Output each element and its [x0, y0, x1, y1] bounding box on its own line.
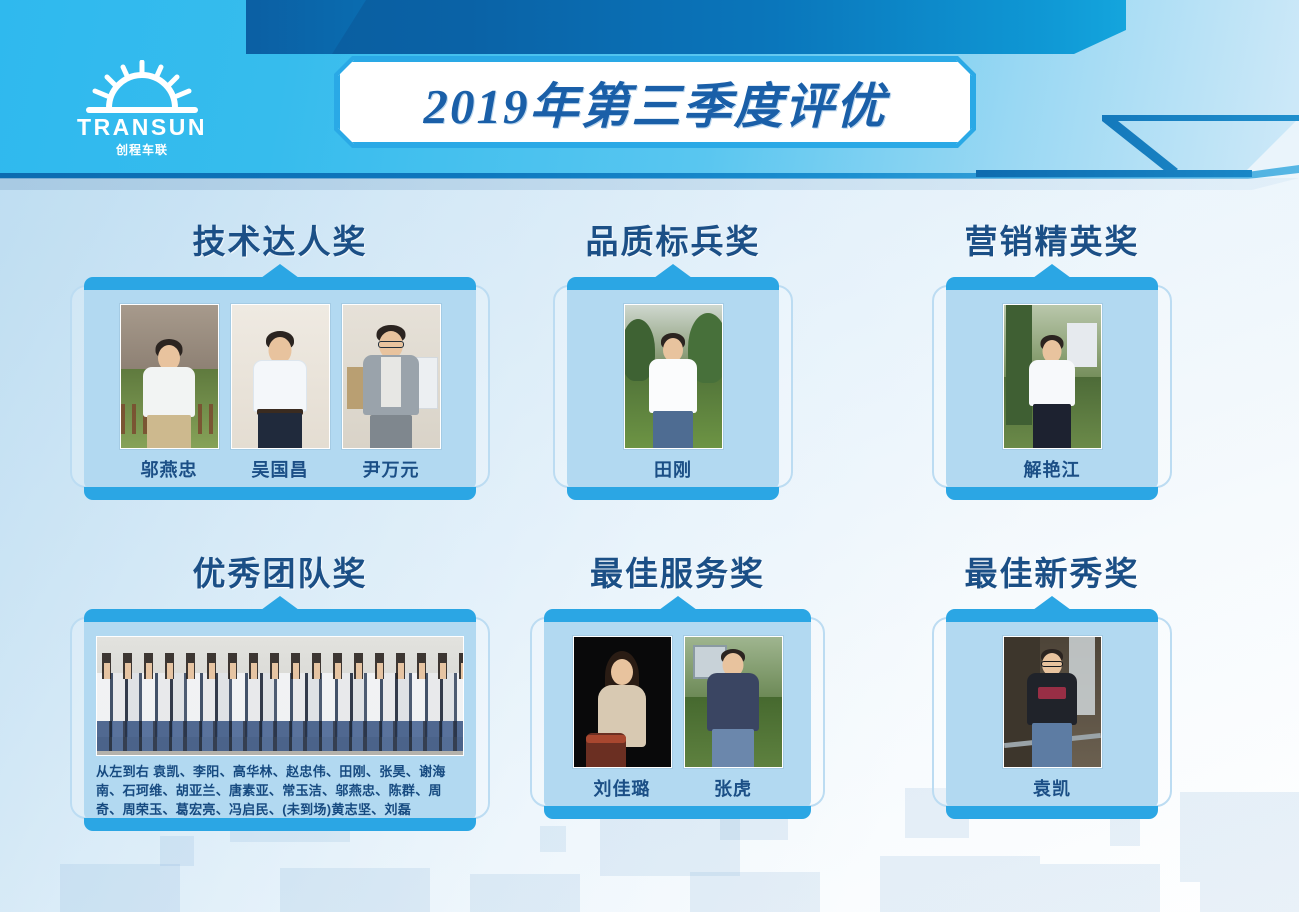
card-notch-triangle — [1033, 596, 1071, 610]
award-title: 优秀团队奖 — [70, 547, 490, 595]
people-list: 邬燕忠 — [84, 295, 476, 488]
person-entry[interactable]: 邬燕忠 — [120, 304, 219, 482]
people-list: 袁凯 — [946, 627, 1158, 807]
people-list: 刘佳璐 — [544, 627, 811, 807]
page-title: 2019年第三季度评优 — [338, 60, 972, 144]
award-card-best-service[interactable]: 最佳服务奖 — [530, 547, 825, 807]
person-name: 张虎 — [684, 775, 783, 801]
card-bottom-bar — [84, 487, 476, 500]
awards-grid: 技术达人奖 — [0, 195, 1299, 855]
card-bottom-bar — [946, 487, 1158, 500]
sunrise-icon — [83, 60, 201, 114]
card-top-bar — [946, 277, 1158, 290]
award-title: 品质标兵奖 — [553, 215, 793, 263]
card-top-bar — [84, 277, 476, 290]
person-entry[interactable]: 尹万元 — [342, 304, 441, 482]
people-list: 田刚 — [567, 295, 779, 488]
award-title: 营销精英奖 — [932, 215, 1172, 263]
card-bottom-bar — [544, 806, 811, 819]
card-body: 从左到右 袁凯、李阳、高华林、赵忠伟、田刚、张昊、谢海南、石珂维、胡亚兰、唐素亚… — [84, 609, 476, 819]
person-photo — [573, 636, 672, 768]
award-card-marketing-elite[interactable]: 营销精英奖 — [932, 215, 1172, 488]
person-name: 解艳江 — [1003, 456, 1102, 482]
card-body: 刘佳璐 — [544, 609, 811, 807]
person-photo — [231, 304, 330, 449]
person-entry[interactable]: 刘佳璐 — [573, 636, 672, 801]
card-notch-triangle — [261, 596, 299, 610]
team-caption: 从左到右 袁凯、李阳、高华林、赵忠伟、田刚、张昊、谢海南、石珂维、胡亚兰、唐素亚… — [96, 762, 464, 819]
company-logo: TRANSUN 创程车联 — [76, 60, 208, 164]
card-body: 田刚 — [567, 277, 779, 488]
card-notch-triangle — [261, 264, 299, 278]
award-title: 技术达人奖 — [70, 215, 490, 263]
person-name: 刘佳璐 — [573, 775, 672, 801]
poster-canvas: TRANSUN 创程车联 2019年第三季度评优 技术达人奖 — [0, 0, 1299, 912]
person-name: 田刚 — [624, 456, 723, 482]
person-photo — [120, 304, 219, 449]
card-notch-triangle — [1033, 264, 1071, 278]
person-entry[interactable]: 田刚 — [624, 304, 723, 482]
card-notch-triangle — [659, 596, 697, 610]
person-entry[interactable]: 袁凯 — [1003, 636, 1102, 801]
header-bottom-shadow — [0, 178, 1299, 190]
person-entry[interactable]: 吴国昌 — [231, 304, 330, 482]
card-bottom-bar — [567, 487, 779, 500]
logo-wordmark: TRANSUN — [76, 115, 208, 139]
card-body: 解艳江 — [946, 277, 1158, 488]
person-entry[interactable]: 张虎 — [684, 636, 783, 801]
person-name: 尹万元 — [342, 456, 441, 482]
person-photo — [684, 636, 783, 768]
card-bottom-bar — [946, 806, 1158, 819]
person-photo — [1003, 304, 1102, 449]
award-card-best-newcomer[interactable]: 最佳新秀奖 — [932, 547, 1172, 807]
card-bottom-bar — [84, 818, 476, 831]
logo-chinese-name: 创程车联 — [76, 141, 208, 158]
award-title: 最佳新秀奖 — [932, 547, 1172, 595]
card-top-bar — [544, 609, 811, 622]
person-photo — [1003, 636, 1102, 768]
card-body: 邬燕忠 — [84, 277, 476, 488]
person-name: 邬燕忠 — [120, 456, 219, 482]
person-name: 吴国昌 — [231, 456, 330, 482]
header-accent-band — [246, 0, 1126, 54]
person-photo — [624, 304, 723, 449]
award-card-tech-expert[interactable]: 技术达人奖 — [70, 215, 490, 488]
award-title: 最佳服务奖 — [530, 547, 825, 595]
card-body: 袁凯 — [946, 609, 1158, 807]
person-entry[interactable]: 解艳江 — [1003, 304, 1102, 482]
card-top-bar — [567, 277, 779, 290]
team-group-photo — [96, 636, 464, 756]
card-top-bar — [84, 609, 476, 622]
card-top-bar — [946, 609, 1158, 622]
person-photo — [342, 304, 441, 449]
card-notch-triangle — [654, 264, 692, 278]
award-card-excellent-team[interactable]: 优秀团队奖 从左到右 袁凯、李阳、高华林、赵忠伟、田刚、张 — [70, 547, 490, 829]
award-card-quality-model[interactable]: 品质标兵奖 — [553, 215, 793, 488]
person-name: 袁凯 — [1003, 775, 1102, 801]
people-list: 解艳江 — [946, 295, 1158, 488]
